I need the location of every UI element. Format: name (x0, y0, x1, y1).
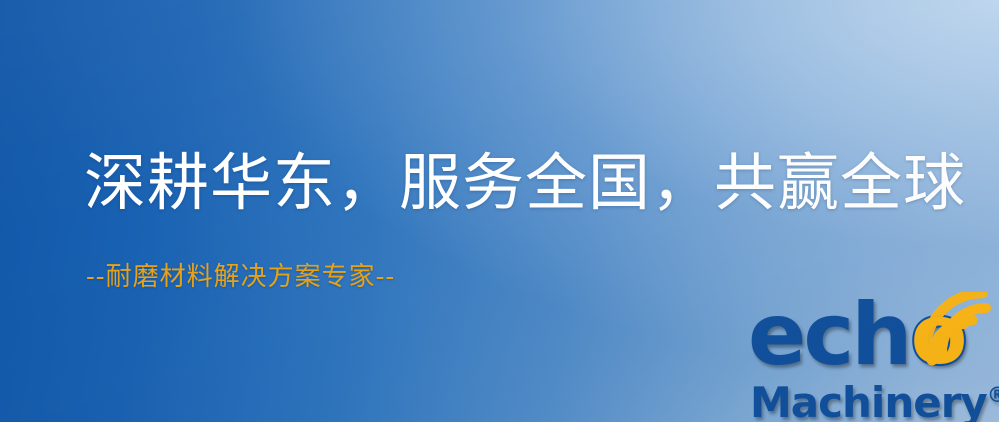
signal-waves-icon (920, 292, 998, 368)
logo-tagline-text: Machinery (750, 378, 987, 422)
banner-subtitle: --耐磨材料解决方案专家-- (86, 262, 395, 293)
hero-banner: 深耕华东，服务全国，共赢全球 --耐磨材料解决方案专家-- echo Machi… (0, 0, 999, 422)
banner-headline: 深耕华东，服务全国，共赢全球 (84, 150, 966, 215)
registered-trademark-icon: ® (987, 383, 999, 407)
logo-tagline: Machinery® (750, 374, 999, 422)
logo-brand-ech: ech (748, 285, 910, 385)
echo-machinery-logo[interactable]: echo Machinery® (748, 292, 998, 422)
